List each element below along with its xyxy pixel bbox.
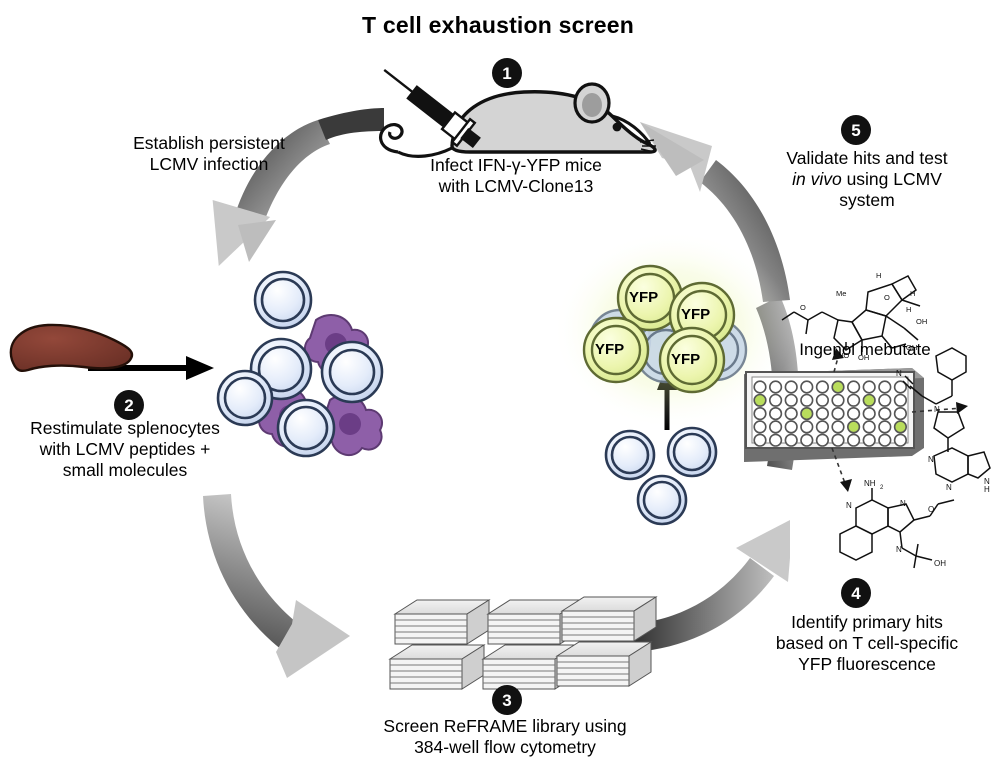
- unstimulated-cells: [606, 428, 716, 524]
- arrow-cells-to-yfp: [657, 364, 677, 430]
- yfp-label-2: YFP: [681, 306, 710, 323]
- well: [895, 434, 907, 446]
- step-3-caption-line-1: Screen ReFRAME library using: [345, 716, 665, 737]
- well: [817, 434, 829, 446]
- svg-text:N: N: [896, 545, 902, 554]
- step-1-caption: Infect IFN-γ-YFP mice with LCMV-Clone13: [392, 155, 640, 197]
- step-3-caption: Screen ReFRAME library using 384-well fl…: [345, 716, 665, 758]
- step-5-caption: Validate hits and test in vivo using LCM…: [742, 148, 992, 211]
- well: [863, 434, 875, 446]
- step-badge-2: 2: [114, 390, 144, 420]
- well-hit: [832, 381, 844, 393]
- well: [801, 421, 813, 433]
- svg-text:N: N: [956, 403, 962, 412]
- well: [801, 434, 813, 446]
- svg-text:H: H: [984, 485, 990, 494]
- chemical-structure-ruxolitinib: N N N N N N H: [896, 348, 990, 494]
- well-hit: [801, 408, 813, 420]
- step-1-caption-line-2: with LCMV-Clone13: [392, 176, 640, 197]
- chemical-structure-imidazoquinoline: NH 2 N N N O OH: [840, 479, 954, 568]
- ingenol-mebutate-label: Ingenol mebutate: [770, 340, 960, 360]
- svg-text:H: H: [876, 271, 881, 280]
- well: [785, 434, 797, 446]
- well: [785, 421, 797, 433]
- well: [879, 434, 891, 446]
- well: [770, 381, 782, 393]
- well: [879, 395, 891, 407]
- svg-text:NH: NH: [864, 479, 876, 488]
- figure-title: T cell exhaustion screen: [0, 12, 996, 39]
- well: [832, 408, 844, 420]
- figure-canvas: T cell exhaustion screen: [0, 0, 996, 773]
- well: [895, 381, 907, 393]
- step-badge-3: 3: [492, 685, 522, 715]
- well: [801, 381, 813, 393]
- svg-text:N: N: [984, 477, 990, 486]
- well: [832, 421, 844, 433]
- well: [770, 395, 782, 407]
- well: [817, 421, 829, 433]
- well: [817, 381, 829, 393]
- spleen-icon: [11, 325, 132, 371]
- well: [879, 381, 891, 393]
- well: [770, 421, 782, 433]
- svg-text:Me: Me: [836, 289, 846, 298]
- step-2-caption-line-3: small molecules: [0, 460, 250, 481]
- step-4-caption-line-1: Identify primary hits: [742, 612, 992, 633]
- well: [895, 408, 907, 420]
- well: [895, 395, 907, 407]
- svg-text:H: H: [910, 289, 915, 298]
- well: [848, 381, 860, 393]
- svg-text:N: N: [934, 405, 940, 414]
- svg-text:O: O: [800, 303, 806, 312]
- establish-label-line-1: Establish persistent: [104, 133, 314, 154]
- well: [801, 395, 813, 407]
- well: [785, 395, 797, 407]
- step-badge-1: 1: [492, 58, 522, 88]
- yfp-cell-cluster: [552, 230, 792, 430]
- well-hit: [754, 395, 766, 407]
- svg-text:N: N: [928, 455, 934, 464]
- svg-text:OH: OH: [934, 559, 946, 568]
- step-5-caption-line-3: system: [742, 190, 992, 211]
- svg-text:O: O: [884, 293, 890, 302]
- well: [770, 434, 782, 446]
- well: [863, 421, 875, 433]
- well: [754, 381, 766, 393]
- yfp-label-4: YFP: [671, 351, 700, 368]
- well: [848, 434, 860, 446]
- step-4-caption: Identify primary hits based on T cell-sp…: [742, 612, 992, 675]
- well: [848, 395, 860, 407]
- svg-text:N: N: [846, 501, 852, 510]
- well: [754, 408, 766, 420]
- well: [879, 421, 891, 433]
- well: [754, 421, 766, 433]
- well: [832, 395, 844, 407]
- yfp-label-3: YFP: [595, 341, 624, 358]
- svg-text:2: 2: [880, 485, 884, 491]
- svg-text:OH: OH: [916, 317, 927, 326]
- svg-text:N: N: [896, 369, 902, 378]
- well: [817, 395, 829, 407]
- svg-text:N: N: [900, 499, 906, 508]
- establish-infection-label: Establish persistent LCMV infection: [104, 133, 314, 175]
- 384-well-plate: [744, 348, 968, 492]
- step-4-caption-line-2: based on T cell-specific: [742, 633, 992, 654]
- step-5-caption-line-2-rest: using LCMV: [842, 169, 942, 189]
- well: [785, 381, 797, 393]
- well-hit: [848, 421, 860, 433]
- arrow-to-validate: [756, 296, 799, 470]
- step-2-caption: Restimulate splenocytes with LCMV peptid…: [0, 418, 250, 481]
- step-badge-4: 4: [841, 578, 871, 608]
- svg-text:O: O: [928, 505, 934, 514]
- well: [770, 408, 782, 420]
- well: [785, 408, 797, 420]
- plate-stacks: [390, 597, 656, 689]
- step-5-italic-term: in vivo: [792, 169, 842, 189]
- step-3-caption-line-2: 384-well flow cytometry: [345, 737, 665, 758]
- well: [863, 408, 875, 420]
- step-2-caption-line-2: with LCMV peptides +: [0, 439, 250, 460]
- well: [754, 434, 766, 446]
- svg-text:N: N: [946, 483, 952, 492]
- step-5-caption-line-1: Validate hits and test: [742, 148, 992, 169]
- step-1-caption-line-1: Infect IFN-γ-YFP mice: [392, 155, 640, 176]
- well: [832, 434, 844, 446]
- svg-text:H: H: [906, 305, 911, 314]
- well: [863, 381, 875, 393]
- arrow-to-screen: [203, 494, 350, 678]
- well-hit: [863, 395, 875, 407]
- step-4-caption-line-3: YFP fluorescence: [742, 654, 992, 675]
- well: [879, 408, 891, 420]
- step-2-caption-line-1: Restimulate splenocytes: [0, 418, 250, 439]
- well: [848, 408, 860, 420]
- yfp-label-1: YFP: [629, 289, 658, 306]
- step-5-caption-line-2: in vivo using LCMV: [742, 169, 992, 190]
- well-hit: [895, 421, 907, 433]
- step-badge-5: 5: [841, 115, 871, 145]
- well: [817, 408, 829, 420]
- establish-label-line-2: LCMV infection: [104, 154, 314, 175]
- arrow-spleen-to-cells: [88, 356, 214, 380]
